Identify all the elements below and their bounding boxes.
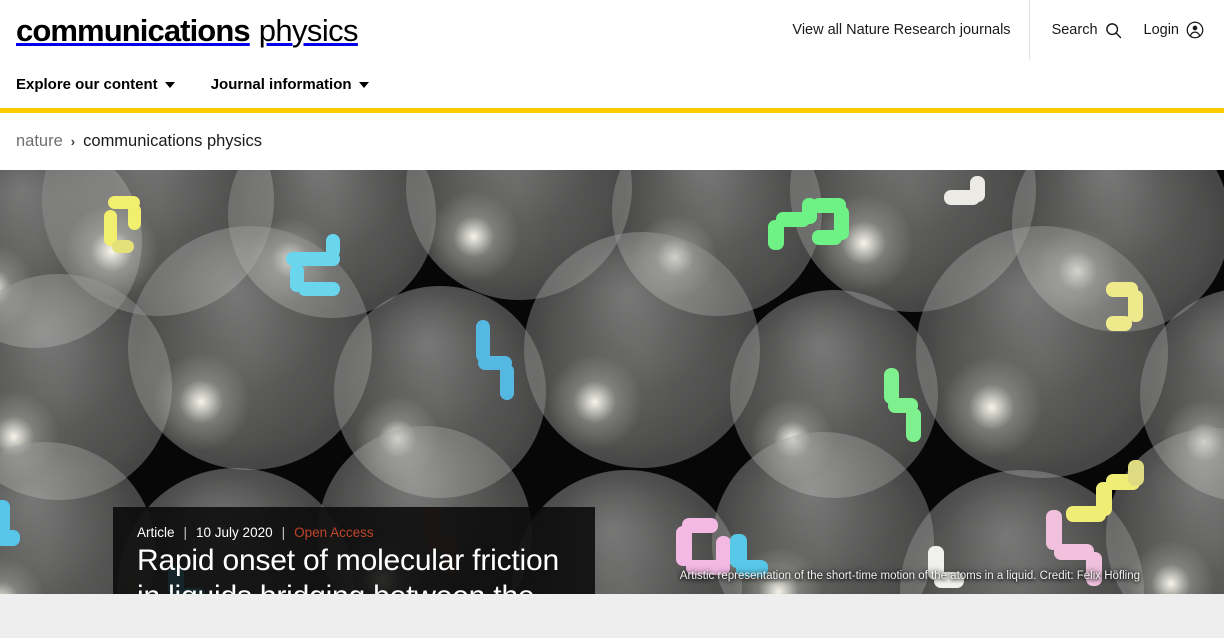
featured-article-card[interactable]: Article | 10 July 2020 | Open Access Rap…	[113, 507, 595, 594]
nav-explore-label: Explore our content	[16, 76, 158, 93]
open-access-badge[interactable]: Open Access	[294, 525, 374, 540]
article-meta: Article | 10 July 2020 | Open Access	[137, 525, 571, 540]
nav-journal-info-label: Journal information	[211, 76, 352, 93]
article-date: 10 July 2020	[196, 525, 273, 540]
journal-logo[interactable]: communications physics	[16, 15, 358, 46]
search-button[interactable]: Search	[1030, 22, 1122, 39]
journal-logo-light: physics	[259, 15, 358, 46]
image-credit: Artistic representation of the short-tim…	[680, 570, 1140, 582]
search-label: Search	[1052, 22, 1098, 38]
breadcrumb-item-nature[interactable]: nature	[16, 132, 63, 151]
chevron-down-icon	[165, 82, 175, 88]
meta-separator: |	[175, 525, 197, 540]
login-label: Login	[1144, 22, 1179, 38]
site-header: communications physics View all Nature R…	[0, 0, 1224, 60]
secondary-nav: Explore our content Journal information	[0, 60, 1224, 108]
breadcrumb-item-current: communications physics	[83, 132, 262, 151]
view-all-journals-link[interactable]: View all Nature Research journals	[792, 22, 1028, 38]
journal-logo-bold: communications	[16, 15, 250, 46]
hero-banner: Article | 10 July 2020 | Open Access Rap…	[0, 170, 1224, 594]
breadcrumb-separator-icon: ›	[71, 135, 75, 148]
article-title-link[interactable]: Rapid onset of molecular friction in liq…	[137, 543, 571, 594]
meta-separator: |	[273, 525, 295, 540]
breadcrumb: nature › communications physics	[0, 113, 1224, 170]
nav-explore-our-content[interactable]: Explore our content	[16, 76, 175, 93]
header-nav: View all Nature Research journals Search…	[792, 0, 1224, 60]
article-type: Article	[137, 525, 175, 540]
page-root: communications physics View all Nature R…	[0, 0, 1224, 638]
login-button[interactable]: Login	[1122, 21, 1224, 39]
search-icon	[1105, 22, 1122, 39]
user-circle-icon	[1186, 21, 1204, 39]
chevron-down-icon	[359, 82, 369, 88]
nav-journal-information[interactable]: Journal information	[211, 76, 369, 93]
content-area-below-hero	[0, 594, 1224, 638]
